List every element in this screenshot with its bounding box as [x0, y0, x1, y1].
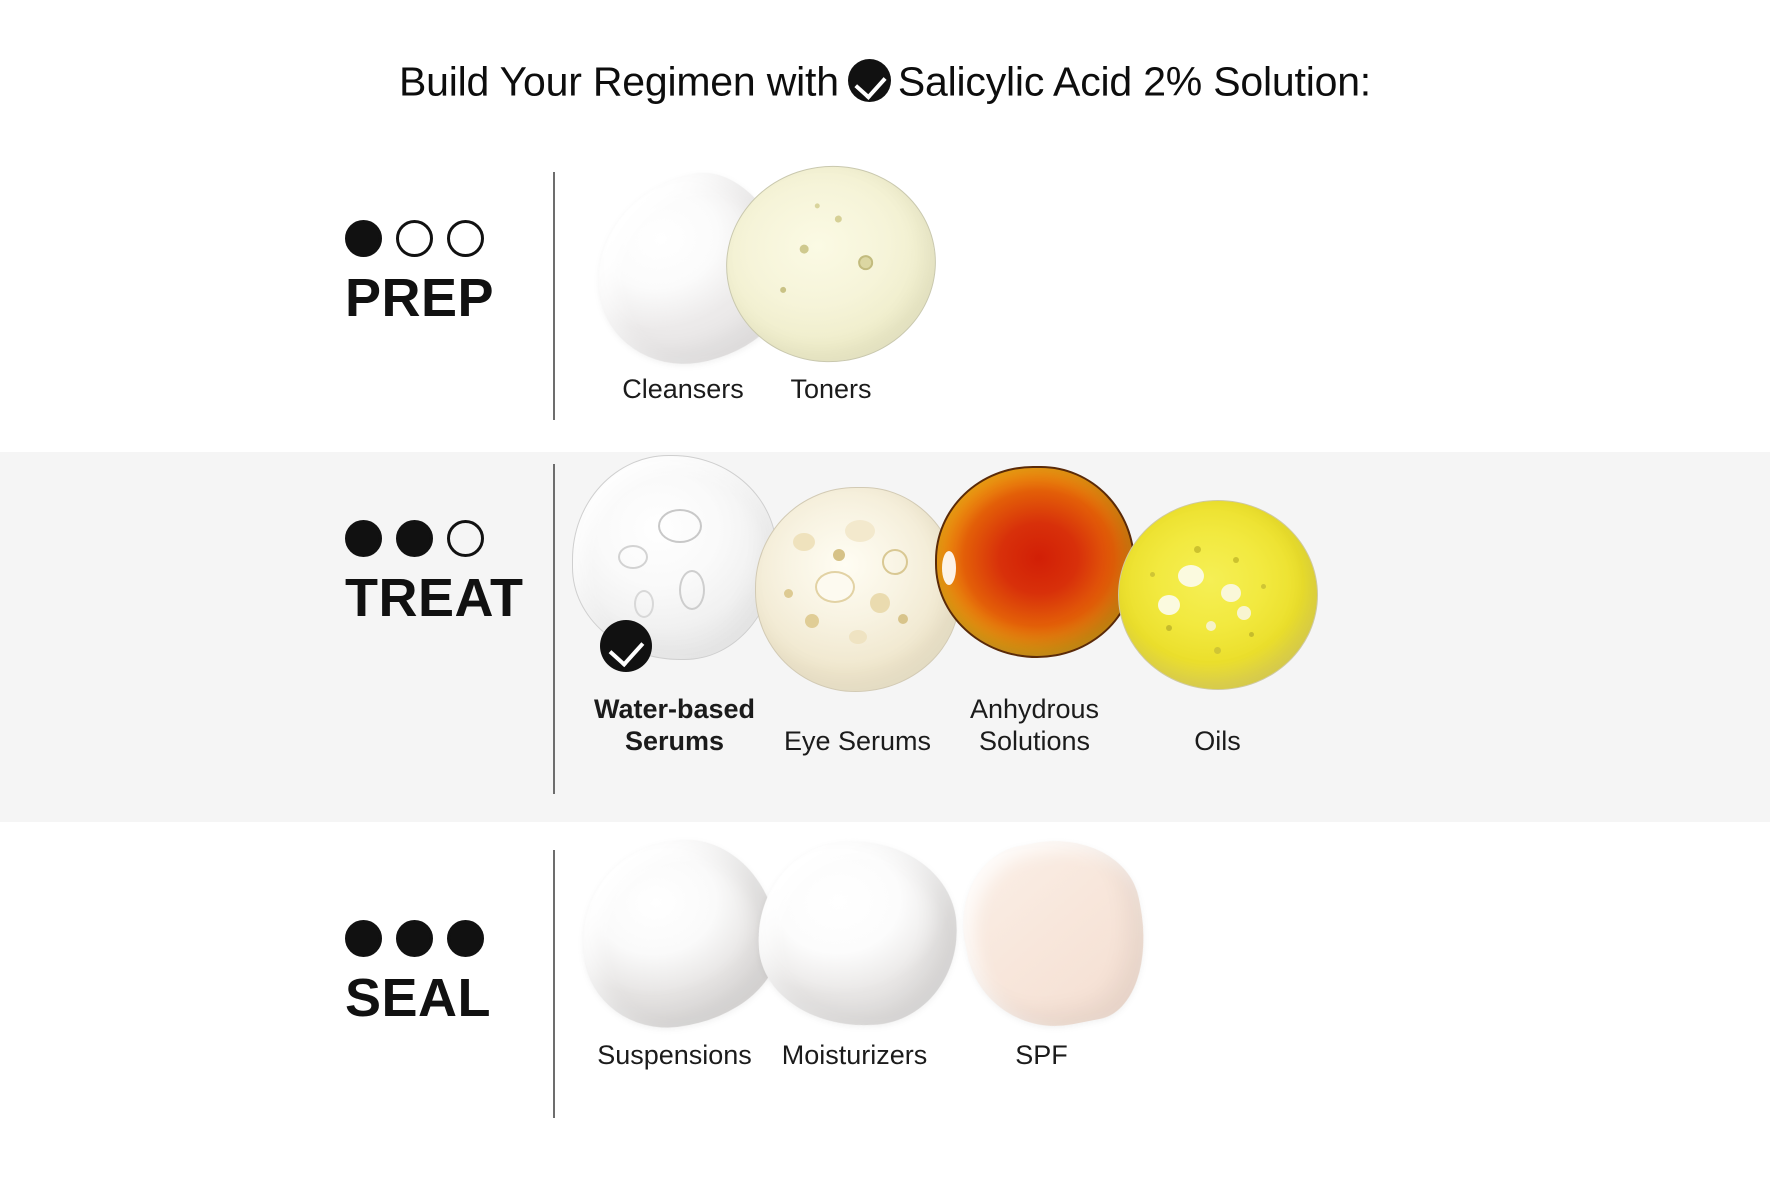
step-row-treat: TREAT Water-based Serums	[0, 452, 1770, 822]
progress-dot-2	[396, 520, 433, 557]
stage-label-treat: TREAT	[345, 520, 545, 625]
progress-dots-treat	[345, 520, 545, 557]
swatch-spf-icon	[949, 826, 1160, 1042]
stage-name-prep: PREP	[345, 271, 545, 325]
divider-prep	[553, 172, 555, 420]
swatch-water-based-serums-icon	[572, 455, 777, 660]
swatch-anhydrous-solutions-icon	[935, 466, 1135, 658]
stage-label-seal: SEAL	[345, 920, 545, 1025]
swatch-moisturizers-icon	[750, 833, 964, 1035]
progress-dot-3	[447, 920, 484, 957]
product-toners[interactable]: Toners	[726, 152, 936, 406]
swatch-toners-icon	[713, 152, 948, 375]
product-moisturizers[interactable]: Moisturizers	[752, 788, 957, 1072]
stage-name-seal: SEAL	[345, 971, 545, 1025]
product-label: Anhydrous Solutions	[932, 694, 1137, 758]
product-water-based-serums[interactable]: Water-based Serums	[572, 432, 777, 758]
progress-dot-3	[447, 520, 484, 557]
progress-dot-3	[447, 220, 484, 257]
selected-check-icon	[600, 620, 652, 672]
product-label: Eye Serums	[755, 726, 960, 758]
product-list-seal: Suspensions Moisturizers SPF	[572, 788, 1144, 1072]
divider-seal	[553, 850, 555, 1118]
progress-dot-1	[345, 920, 382, 957]
progress-dots-prep	[345, 220, 545, 257]
product-label: Toners	[726, 374, 936, 406]
product-list-prep: Cleansers Toners	[578, 152, 936, 406]
stage-name-treat: TREAT	[345, 571, 545, 625]
product-eye-serums[interactable]: Eye Serums	[755, 464, 960, 758]
step-row-seal: SEAL Suspensions Moisturizers	[0, 822, 1770, 1152]
title-prefix: Build Your Regimen with	[399, 59, 839, 105]
product-label: SPF	[939, 1040, 1144, 1072]
swatch-eye-serums-icon	[755, 487, 960, 692]
regimen-infographic: Build Your Regimen withSalicylic Acid 2%…	[0, 0, 1770, 1198]
product-spf[interactable]: SPF	[939, 802, 1144, 1072]
product-anhydrous-solutions[interactable]: Anhydrous Solutions	[932, 430, 1137, 758]
progress-dots-seal	[345, 920, 545, 957]
progress-dot-1	[345, 520, 382, 557]
step-row-prep: PREP Cleansers	[0, 140, 1770, 440]
stage-label-prep: PREP	[345, 220, 545, 325]
product-label: Moisturizers	[752, 1040, 957, 1072]
swatch-oils-icon	[1118, 500, 1318, 690]
page-title: Build Your Regimen withSalicylic Acid 2%…	[0, 56, 1770, 106]
product-label: Suspensions	[572, 1040, 777, 1072]
product-label: Oils	[1115, 726, 1320, 758]
product-oils[interactable]: Oils	[1115, 462, 1320, 758]
product-label: Water-based Serums	[572, 694, 777, 758]
progress-dot-2	[396, 220, 433, 257]
check-circle-icon	[848, 59, 891, 102]
divider-treat	[553, 464, 555, 794]
progress-dot-2	[396, 920, 433, 957]
progress-dot-1	[345, 220, 382, 257]
product-list-treat: Water-based Serums	[572, 430, 1320, 758]
title-product: Salicylic Acid 2% Solution:	[898, 59, 1371, 105]
product-suspensions[interactable]: Suspensions	[572, 788, 777, 1072]
